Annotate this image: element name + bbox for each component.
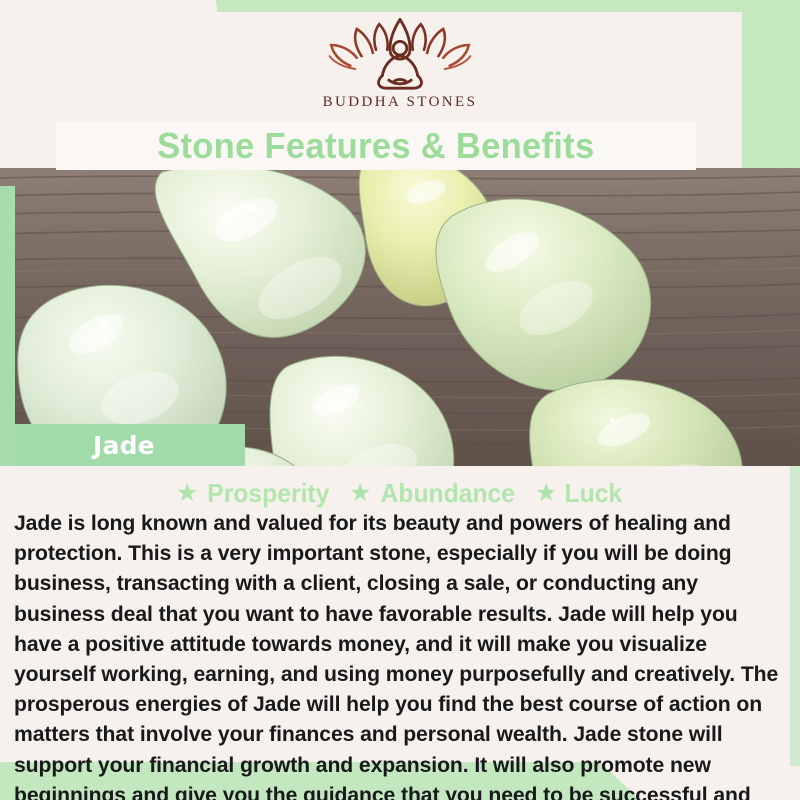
stone-name-label: Jade <box>93 431 155 460</box>
benefit-item: ★ Abundance <box>349 478 519 509</box>
benefit-label: Prosperity <box>208 478 330 509</box>
benefit-item: ★ Luck <box>535 478 624 509</box>
brand-logo-block: BUDDHA STONES <box>0 16 800 120</box>
benefit-label: Luck <box>565 478 623 509</box>
brand-wordmark: BUDDHA STONES <box>323 94 478 111</box>
star-icon: ★ <box>535 481 557 506</box>
stone-name-tab: Jade <box>15 424 245 466</box>
benefit-label: Abundance <box>381 478 515 509</box>
benefit-item: ★ Prosperity <box>176 478 333 509</box>
page-title: Stone Features & Benefits <box>157 125 594 167</box>
stone-info-poster: BUDDHA STONES Stone Features & Benefits <box>0 0 800 800</box>
benefits-row: ★ Prosperity ★ Abundance ★ Luck <box>0 478 800 509</box>
decorative-green-right-edge <box>790 466 800 766</box>
headline-banner: Stone Features & Benefits <box>56 122 696 170</box>
star-icon: ★ <box>176 481 198 506</box>
stone-photo <box>0 168 800 466</box>
lotus-meditation-icon <box>320 16 480 90</box>
jade-stones-illustration <box>0 168 800 466</box>
star-icon: ★ <box>349 481 371 506</box>
stone-description: Jade is long known and valued for its be… <box>14 508 778 800</box>
decorative-green-left-bar <box>0 186 15 466</box>
